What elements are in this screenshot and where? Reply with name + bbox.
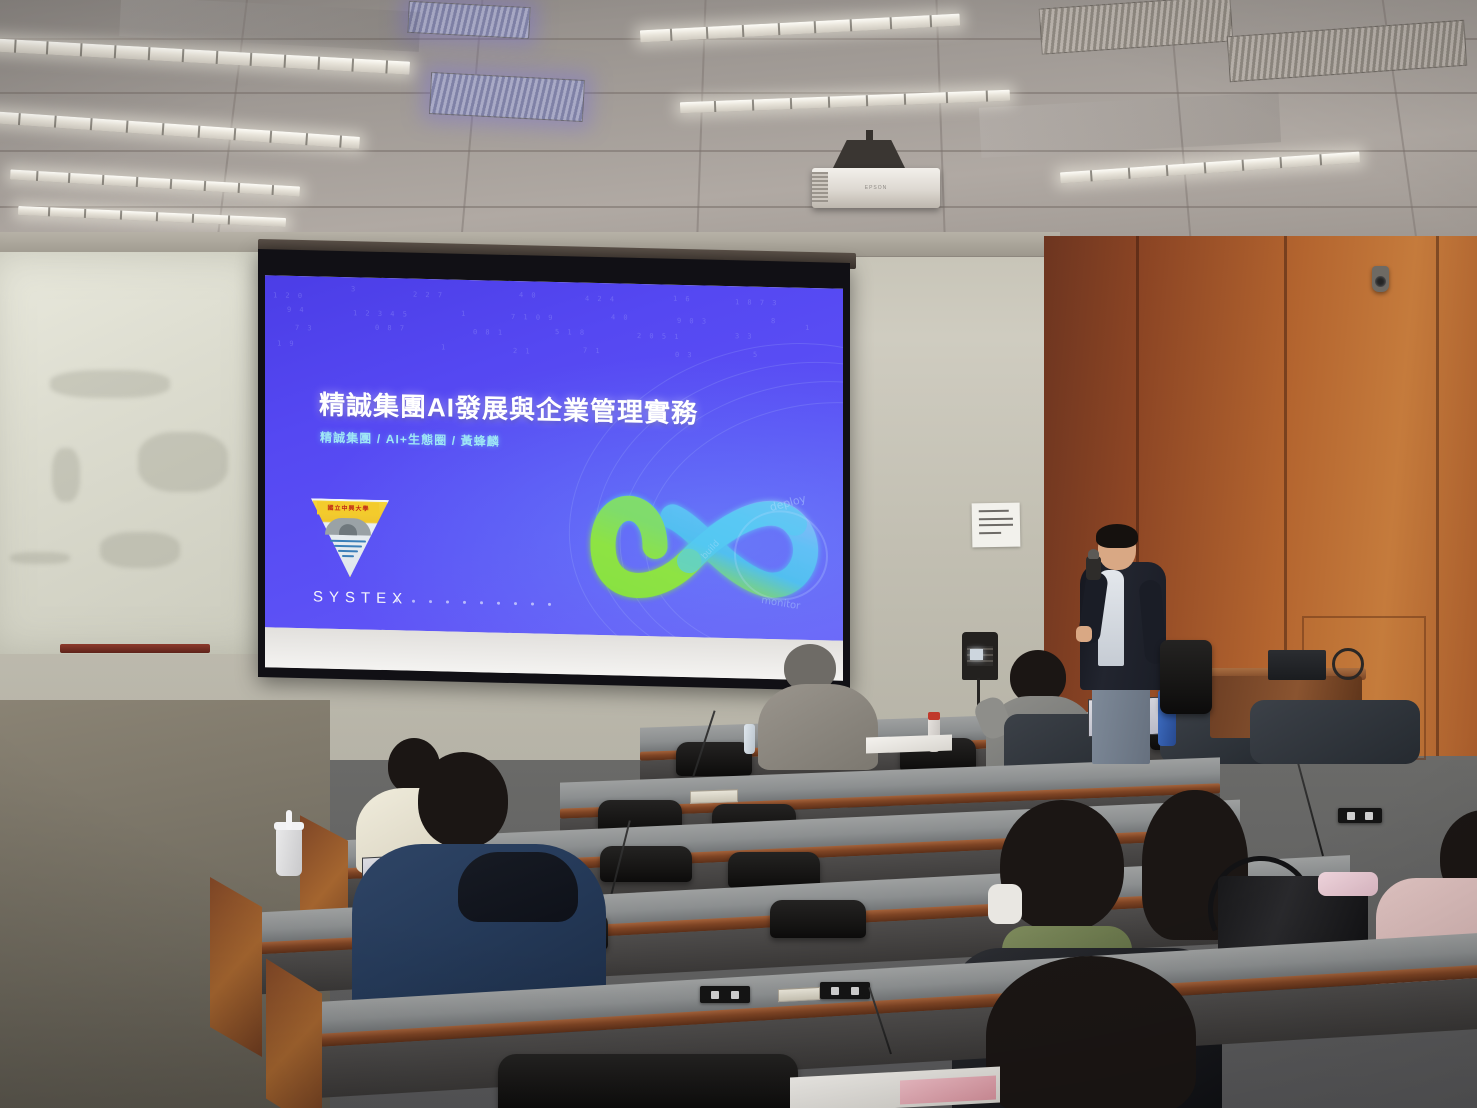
handheld-microphone: [1086, 556, 1101, 580]
ceiling-light-fixture: [1060, 152, 1360, 184]
coat: [1250, 700, 1420, 764]
nameplate: [778, 987, 820, 1002]
slide-subtitle: 精誠集團 / AI+生態圈 / 黃蜂麟: [320, 428, 500, 449]
nameplate: [690, 789, 738, 804]
bottle-cap: [928, 712, 940, 720]
delegate-control-panel[interactable]: [820, 982, 870, 999]
chair[interactable]: [770, 900, 866, 938]
emblem-text-band: 國立中興大學: [317, 501, 379, 515]
cable-coil: [1332, 648, 1364, 680]
ceiling-air-vent: [1039, 0, 1234, 55]
screen-surface: 1 2 0 3 2 2 7 4 0 4 2 4 1 6 1 8 7 3 9 4 …: [265, 275, 843, 681]
ceiling-air-vent: [407, 1, 531, 39]
projector-vent: [812, 172, 828, 202]
pink-thermos: [1318, 872, 1378, 896]
head: [986, 956, 1196, 1108]
chair[interactable]: [728, 852, 820, 888]
chair[interactable]: [498, 1054, 798, 1108]
slide-title: 精誠集團AI發展與企業管理實務: [319, 384, 698, 430]
infinity-loop-graphic: deploy monitor build: [585, 459, 835, 637]
speaker-legs: [1092, 680, 1150, 764]
desk-end-panel: [210, 877, 262, 1057]
whiteboard: [0, 252, 268, 654]
hood: [458, 852, 578, 922]
chair[interactable]: [676, 742, 752, 776]
speaker-hand: [1076, 626, 1092, 642]
whiteboard-marker-tray: [60, 644, 210, 653]
presentation-slide: 1 2 0 3 2 2 7 4 0 4 2 4 1 6 1 8 7 3 9 4 …: [265, 275, 843, 641]
lecture-hall-scene: EPSON 1 2 0 3 2 2 7: [0, 0, 1477, 1108]
drink-cup: [276, 828, 302, 876]
systex-wordmark: SYSTEX: [313, 588, 408, 607]
delegate-control-panel[interactable]: [1338, 808, 1382, 823]
wall-notice-sign: [972, 503, 1021, 548]
projector-brand-label: EPSON: [865, 185, 888, 191]
speaker-hair: [1096, 524, 1138, 548]
torso: [758, 684, 878, 770]
ceiling-light-fixture: [18, 206, 286, 227]
projection-screen: 1 2 0 3 2 2 7 4 0 4 2 4 1 6 1 8 7 3 9 4 …: [258, 249, 850, 691]
ceiling-light-fixture: [10, 169, 300, 196]
head: [418, 752, 508, 848]
security-camera: [1372, 266, 1389, 292]
handout-papers: [866, 734, 952, 753]
podium-laptop[interactable]: [1268, 650, 1326, 680]
face-mask: [988, 884, 1022, 924]
delegate-control-panel[interactable]: [700, 986, 750, 1003]
wall-light-fixture: [962, 632, 998, 680]
projector: EPSON: [812, 168, 940, 208]
ceiling-air-vent: [429, 72, 585, 122]
chair[interactable]: [1160, 640, 1212, 714]
ceiling-air-vent: [1227, 20, 1468, 82]
ceiling: [0, 0, 1477, 252]
water-bottle: [744, 724, 755, 754]
ceiling-light-fixture: [0, 111, 360, 149]
handout-colour-block: [900, 1075, 996, 1104]
university-emblem: 國立中興大學: [311, 498, 385, 574]
cup-straw: [286, 810, 292, 830]
slide-dot-divider: [395, 598, 615, 607]
